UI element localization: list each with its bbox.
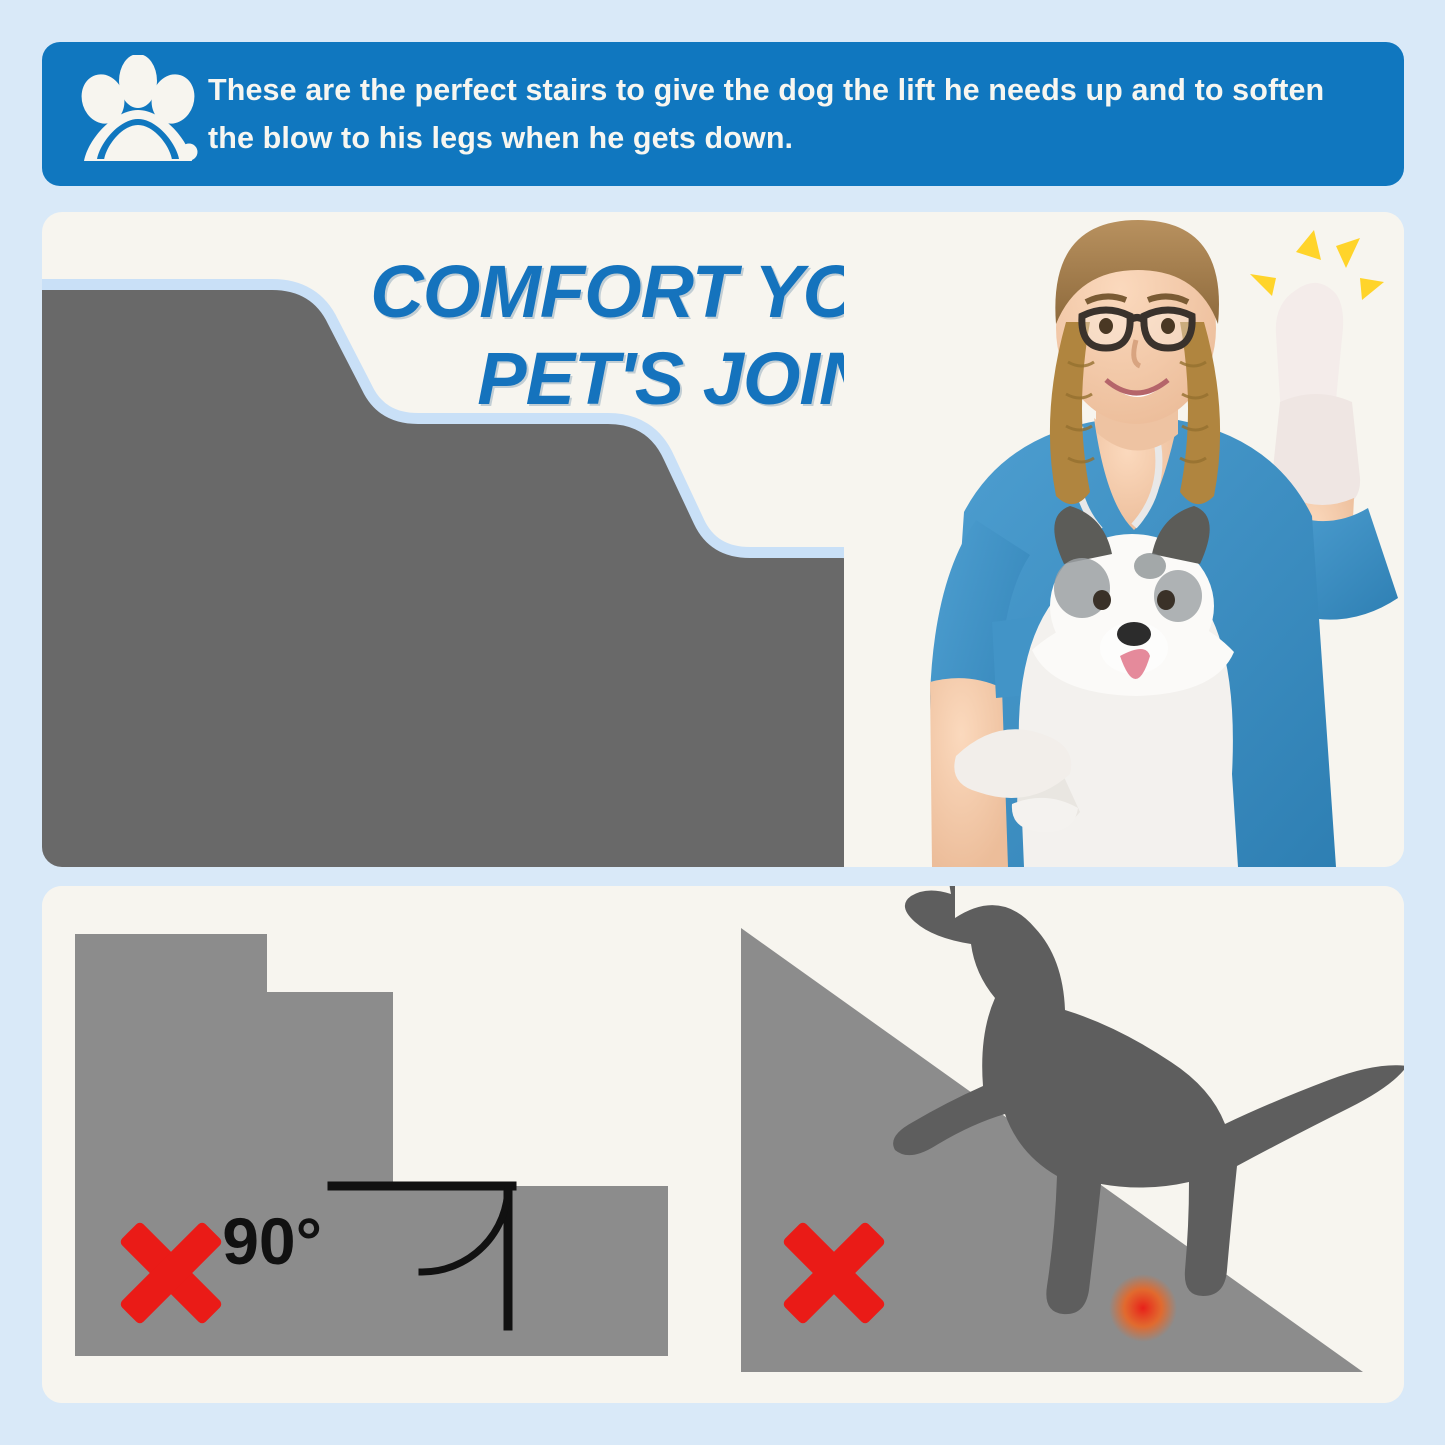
bad-examples-panel: 90° (42, 886, 1404, 1403)
headline-banner: These are the perfect stairs to give the… (42, 42, 1404, 186)
headline-line-2: PET'S JOINTS (42, 335, 964, 422)
banner-line-1: These are the perfect stairs to give the… (208, 73, 1123, 107)
veterinarian-with-dog-photo (844, 212, 1404, 867)
banner-message: These are the perfect stairs to give the… (204, 66, 1378, 162)
hero-headline: COMFORT YOUR PET'S JOINTS (42, 248, 982, 423)
steep-square-stairs-example: 90° (42, 886, 723, 1403)
infographic-page: These are the perfect stairs to give the… (0, 0, 1445, 1445)
angle-label: 90° (222, 1204, 322, 1278)
joint-pain-indicator (1109, 1274, 1177, 1342)
steep-ramp-example (723, 886, 1404, 1403)
hero-panel: COMFORT YOUR PET'S JOINTS (42, 212, 1404, 867)
paw-print-icon (72, 55, 204, 173)
